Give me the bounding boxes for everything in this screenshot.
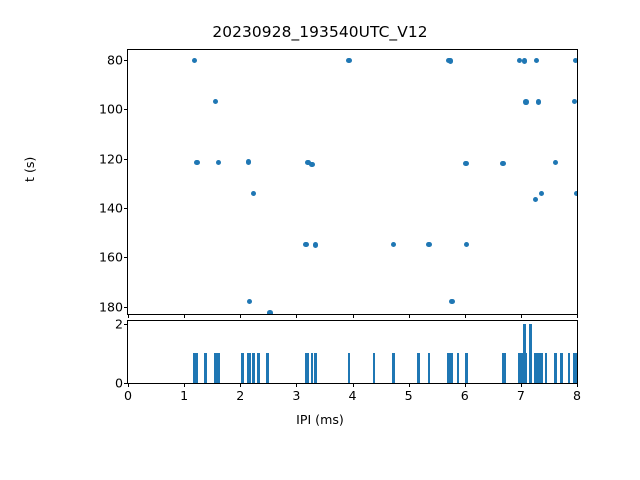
scatter-point bbox=[534, 58, 539, 63]
histogram-bar bbox=[241, 353, 244, 383]
y-tick-mark bbox=[124, 257, 128, 258]
scatter-point bbox=[194, 160, 199, 165]
histogram-bar bbox=[428, 353, 431, 383]
scatter-point bbox=[346, 58, 351, 63]
y-tick-label: 180 bbox=[99, 299, 123, 314]
x-tick-mark bbox=[353, 314, 354, 318]
scatter-point bbox=[216, 160, 221, 165]
x-tick-mark bbox=[296, 383, 297, 387]
y-tick-mark bbox=[124, 109, 128, 110]
histogram-bar bbox=[252, 353, 255, 383]
histogram-bar bbox=[451, 353, 454, 383]
histogram-bar bbox=[465, 353, 468, 383]
scatter-point bbox=[500, 161, 505, 166]
histogram-bar bbox=[575, 353, 577, 383]
x-tick-label: 8 bbox=[573, 388, 581, 403]
x-tick-label: 6 bbox=[461, 388, 469, 403]
x-tick-mark bbox=[184, 383, 185, 387]
histogram-bar bbox=[257, 353, 260, 383]
scatter-point bbox=[464, 242, 469, 247]
histogram-bar bbox=[560, 353, 563, 383]
x-tick-mark bbox=[465, 383, 466, 387]
histogram-bar bbox=[204, 353, 207, 383]
histogram-bar bbox=[417, 353, 420, 383]
y-tick-label: 80 bbox=[107, 52, 123, 67]
x-tick-mark bbox=[465, 314, 466, 318]
x-tick-mark bbox=[296, 314, 297, 318]
scatter-point bbox=[522, 58, 527, 63]
histogram-bar bbox=[348, 353, 351, 383]
x-tick-label: 2 bbox=[236, 388, 244, 403]
histogram-bar bbox=[525, 353, 528, 383]
scatter-point bbox=[448, 58, 453, 63]
scatter-point bbox=[192, 58, 197, 63]
scatter-point bbox=[313, 242, 318, 247]
scatter-point bbox=[553, 160, 558, 165]
histogram-bar bbox=[307, 353, 310, 383]
x-tick-label: 4 bbox=[348, 388, 356, 403]
histogram-panel: 02 012345678 bbox=[127, 320, 578, 384]
scatter-point bbox=[449, 299, 454, 304]
histogram-bar bbox=[217, 353, 220, 383]
histogram-bar bbox=[314, 353, 317, 383]
x-tick-mark bbox=[409, 383, 410, 387]
x-tick-label: 0 bbox=[124, 388, 132, 403]
histogram-bar bbox=[266, 353, 269, 383]
histogram-bar bbox=[540, 353, 543, 383]
x-axis-title: IPI (ms) bbox=[0, 412, 640, 427]
x-tick-label: 5 bbox=[405, 388, 413, 403]
scatter-point bbox=[463, 161, 468, 166]
y-tick-label: 160 bbox=[99, 250, 123, 265]
x-tick-mark bbox=[184, 314, 185, 318]
x-tick-mark bbox=[128, 383, 129, 387]
histogram-bar bbox=[311, 353, 314, 383]
x-tick-mark bbox=[521, 314, 522, 318]
histogram-plot-area bbox=[128, 321, 577, 383]
y-tick-label: 100 bbox=[99, 102, 123, 117]
histogram-bar bbox=[457, 353, 460, 383]
x-tick-mark bbox=[577, 383, 578, 387]
x-tick-label: 1 bbox=[180, 388, 188, 403]
x-tick-mark bbox=[353, 383, 354, 387]
scatter-point bbox=[533, 197, 538, 202]
x-tick-label: 7 bbox=[517, 388, 525, 403]
y-tick-label: 2 bbox=[115, 316, 123, 331]
scatter-point bbox=[536, 99, 541, 104]
scatter-point bbox=[246, 159, 251, 164]
scatter-point bbox=[523, 99, 528, 104]
y-tick-mark bbox=[124, 60, 128, 61]
scatter-point bbox=[573, 58, 577, 63]
scatter-point bbox=[309, 162, 314, 167]
histogram-bar bbox=[545, 353, 548, 383]
scatter-point bbox=[247, 299, 252, 304]
histogram-bar bbox=[504, 353, 507, 383]
scatter-point bbox=[572, 99, 577, 104]
x-tick-mark bbox=[240, 383, 241, 387]
histogram-bar bbox=[537, 353, 540, 383]
scatter-point bbox=[426, 242, 431, 247]
histogram-bar bbox=[373, 353, 376, 383]
y-tick-mark bbox=[124, 307, 128, 308]
scatter-point bbox=[391, 242, 396, 247]
histogram-bar bbox=[248, 353, 251, 383]
y-tick-mark bbox=[124, 208, 128, 209]
scatter-point bbox=[213, 99, 218, 104]
x-tick-mark bbox=[128, 314, 129, 318]
figure-title: 20230928_193540UTC_V12 bbox=[0, 23, 640, 41]
figure-canvas: 20230928_193540UTC_V12 80100120140160180… bbox=[0, 0, 640, 480]
scatter-point bbox=[539, 191, 544, 196]
scatter-point bbox=[303, 242, 308, 247]
scatter-point bbox=[267, 310, 272, 314]
y-tick-label: 0 bbox=[115, 376, 123, 391]
y-tick-mark bbox=[124, 324, 128, 325]
y-axis-title: t (s) bbox=[22, 157, 37, 182]
x-tick-mark bbox=[577, 314, 578, 318]
scatter-plot-area bbox=[128, 50, 577, 314]
scatter-point bbox=[251, 191, 256, 196]
x-tick-label: 3 bbox=[292, 388, 300, 403]
x-tick-mark bbox=[409, 314, 410, 318]
scatter-plot-panel: 80100120140160180 bbox=[127, 49, 578, 315]
histogram-bar bbox=[529, 324, 532, 383]
y-tick-label: 120 bbox=[99, 151, 123, 166]
x-tick-mark bbox=[240, 314, 241, 318]
y-tick-mark bbox=[124, 159, 128, 160]
histogram-bar bbox=[196, 353, 199, 383]
histogram-bar bbox=[554, 353, 557, 383]
histogram-bar bbox=[392, 353, 395, 383]
scatter-point bbox=[574, 191, 577, 196]
histogram-bar bbox=[568, 353, 571, 383]
x-tick-mark bbox=[521, 383, 522, 387]
y-tick-label: 140 bbox=[99, 200, 123, 215]
